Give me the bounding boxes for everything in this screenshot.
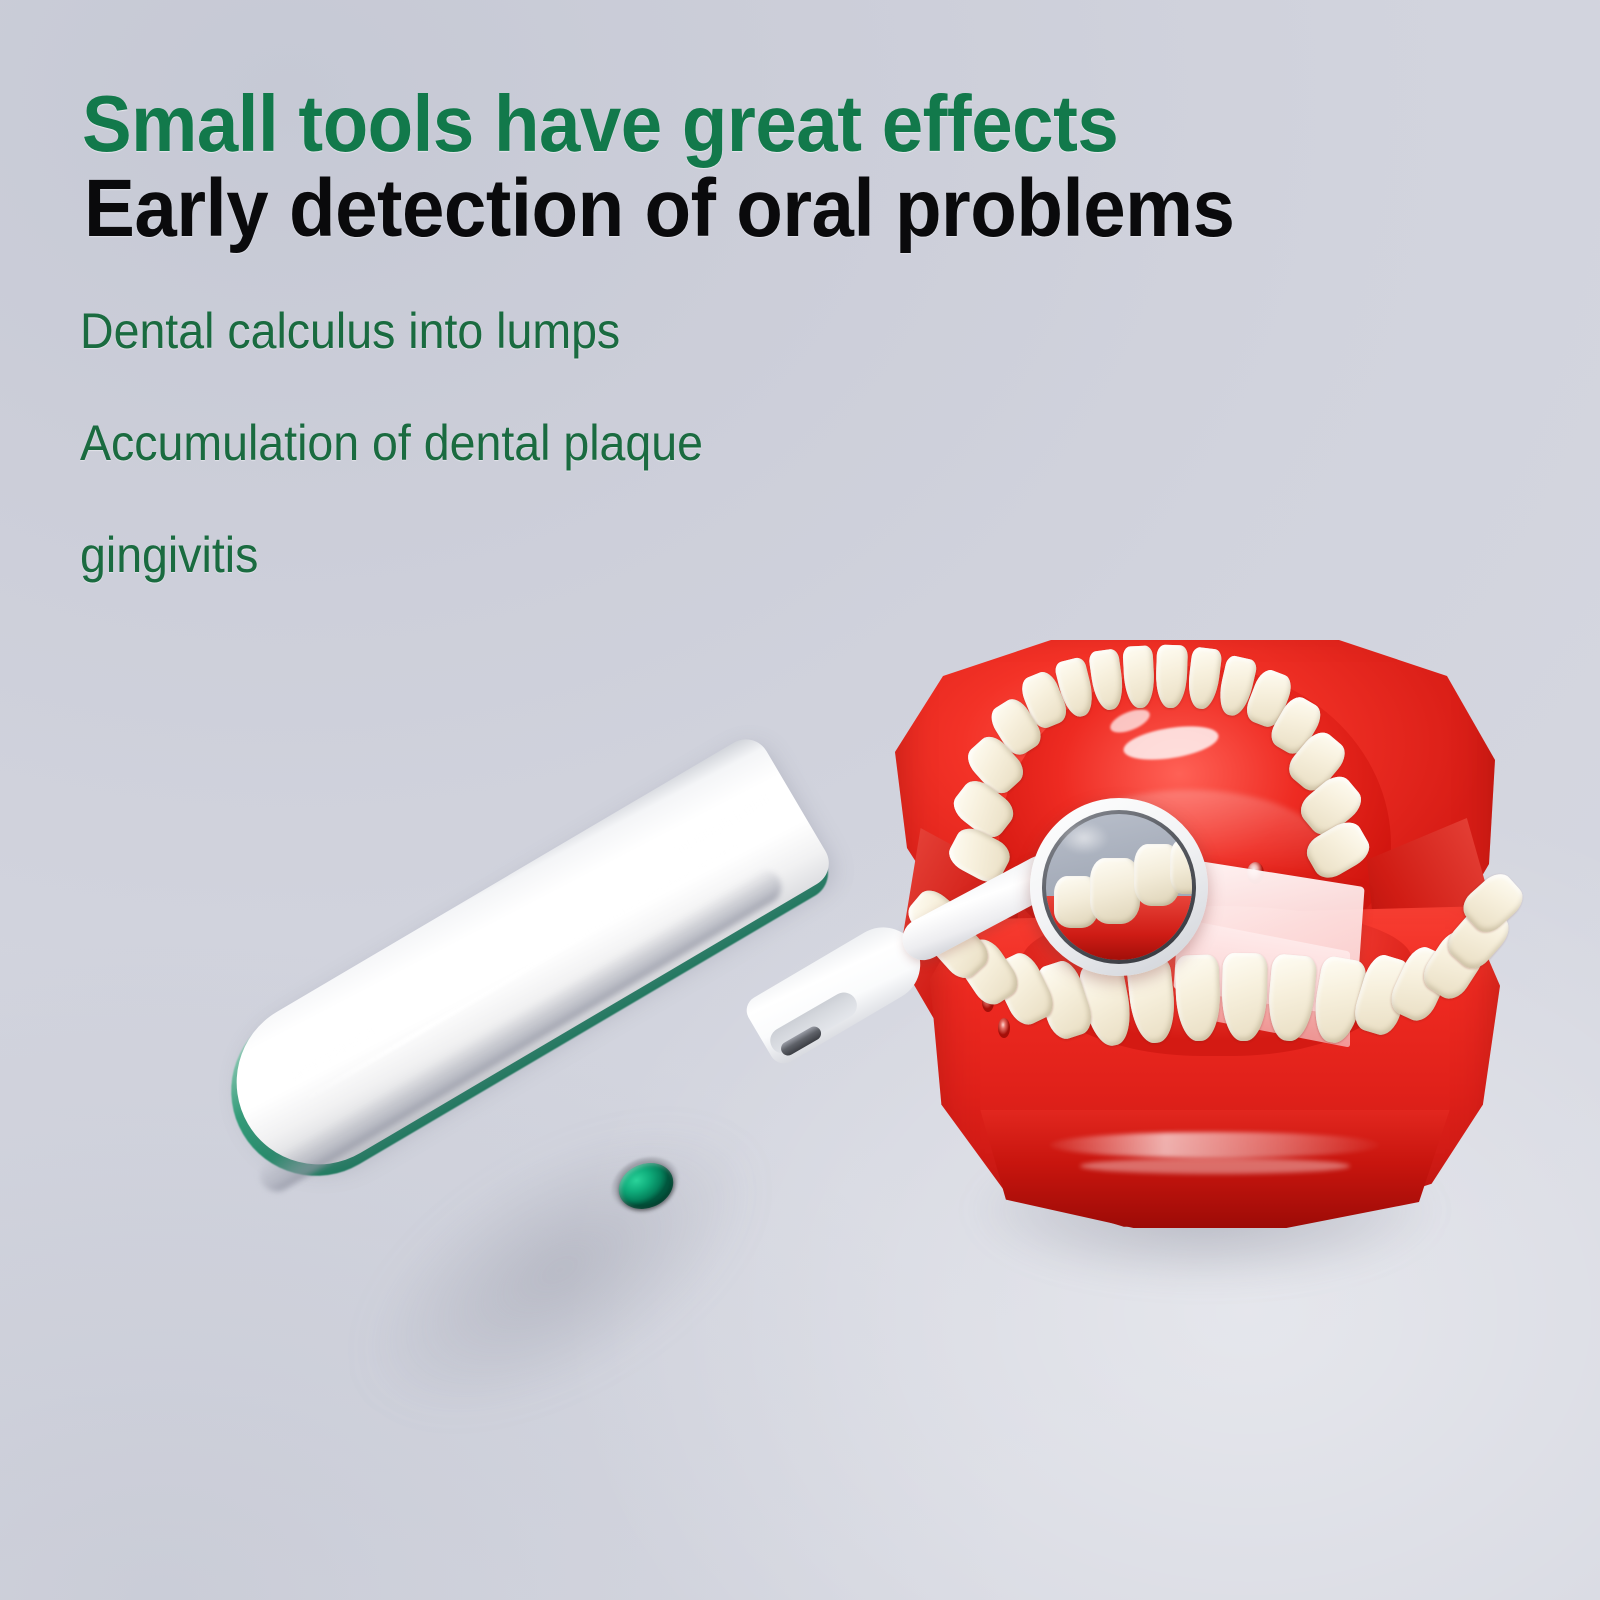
- tooth-lower-molar: [1441, 899, 1516, 975]
- upper-gum: [895, 640, 1495, 1040]
- tooth-upper-molar: [1283, 726, 1352, 797]
- palate-gloss-large: [1121, 721, 1221, 766]
- mirror-reflection-tooth: [1054, 876, 1098, 928]
- lower-gum: [930, 900, 1500, 1230]
- lower-jaw-model: [930, 900, 1500, 1240]
- mirror-stem: [895, 848, 1069, 967]
- tooth-lower-premolar: [989, 948, 1059, 1030]
- bite-spacer-face: [1190, 920, 1350, 1047]
- tooth-lower-molar: [922, 911, 994, 984]
- tooth-lower-incisor: [1221, 953, 1268, 1042]
- palate-ridge: [1055, 790, 1325, 910]
- tooth-lower-premolar: [1031, 957, 1096, 1043]
- tooth-upper-premolar: [1017, 668, 1071, 732]
- upper-jaw-base-right: [1367, 818, 1495, 1008]
- tooth-upper-incisor: [1122, 645, 1155, 708]
- tooth-lower-canine: [1077, 959, 1136, 1050]
- handle-specular-highlight: [286, 792, 773, 1084]
- tooth-upper-incisor: [1185, 646, 1222, 710]
- tooth-lower-molar: [902, 884, 972, 952]
- bite-spacer-block: [1173, 858, 1364, 1017]
- lower-gum-inner: [1022, 906, 1412, 1056]
- handle-metal-contact: [779, 1024, 824, 1058]
- tooth-upper-incisor: [1155, 644, 1188, 708]
- mirror-reflection-tooth: [1170, 840, 1192, 894]
- benefit-item-1: Dental calculus into lumps: [80, 306, 1399, 356]
- mirror-reflection-tooth: [1134, 844, 1180, 906]
- tooth-lower-canine: [1309, 955, 1368, 1047]
- mirror-glass: [1046, 814, 1192, 960]
- mirror-reflection-gum: [1046, 896, 1192, 960]
- palate-gloss-small: [1107, 705, 1153, 737]
- tool-drop-shadow: [217, 982, 903, 1558]
- handle-green-trim: [200, 736, 838, 1207]
- mirror-reflection-tooth: [1090, 858, 1140, 924]
- handle-body: [206, 731, 837, 1195]
- tooth-upper-premolar: [986, 694, 1047, 760]
- tooth-upper-canine: [1215, 654, 1258, 718]
- tooth-lower-molar: [1457, 867, 1530, 939]
- tooth-lower-molar: [952, 933, 1024, 1011]
- headline-secondary: Early detection of oral problems: [84, 168, 1399, 250]
- tooth-upper-incisor: [1088, 648, 1126, 712]
- tooth-upper-premolar: [1242, 666, 1295, 730]
- handle-neck: [741, 914, 934, 1069]
- tooth-upper-molar: [944, 822, 1015, 887]
- tooth-lower-premolar: [1385, 942, 1456, 1026]
- lower-gum-socket: [998, 1018, 1010, 1038]
- lower-gum-gloss: [1050, 1132, 1380, 1158]
- headline-primary: Small tools have great effects: [82, 84, 1399, 164]
- tooth-upper-molar: [1294, 770, 1367, 842]
- product-banner: Small tools have great effects Early det…: [0, 0, 1600, 1600]
- model-drop-shadow: [905, 1115, 1505, 1305]
- palate-vent-hole: [1247, 862, 1264, 884]
- tooth-upper-premolar: [1266, 692, 1326, 759]
- tooth-lower-molar: [1417, 925, 1492, 1005]
- mirror-rim: [1030, 798, 1208, 976]
- lower-jaw-base: [960, 1110, 1470, 1228]
- tooth-upper-molar: [947, 774, 1019, 844]
- tooth-lower-incisor: [1175, 954, 1222, 1041]
- mirror-glass-highlight: [1056, 822, 1126, 868]
- handle-specular-highlight-secondary: [299, 842, 741, 1105]
- handle-underside-shading: [253, 864, 787, 1198]
- upper-jaw-model: [895, 640, 1495, 1060]
- power-button-bezel: [602, 1147, 690, 1226]
- tooth-lower-premolar: [1350, 951, 1416, 1039]
- power-button[interactable]: [612, 1155, 680, 1217]
- benefit-item-2: Accumulation of dental plaque: [80, 418, 1399, 468]
- tooth-lower-incisor: [1126, 956, 1179, 1045]
- upper-jaw-base-left: [899, 828, 1019, 1033]
- tooth-upper-molar: [1301, 816, 1375, 884]
- headline-copy-block: Small tools have great effects Early det…: [78, 84, 1498, 580]
- tooth-upper-canine: [1053, 656, 1097, 720]
- benefit-list: Dental calculus into lumps Accumulation …: [80, 306, 1498, 580]
- tooth-lower-incisor: [1265, 953, 1317, 1043]
- handle-neck-window: [766, 988, 862, 1059]
- lower-gum-gloss-secondary: [1080, 1158, 1350, 1174]
- tooth-upper-molar: [962, 730, 1030, 799]
- benefit-item-3: gingivitis: [80, 530, 1399, 580]
- lower-gum-socket: [982, 992, 994, 1012]
- palate: [999, 666, 1391, 966]
- mirror-bezel: [1042, 810, 1196, 964]
